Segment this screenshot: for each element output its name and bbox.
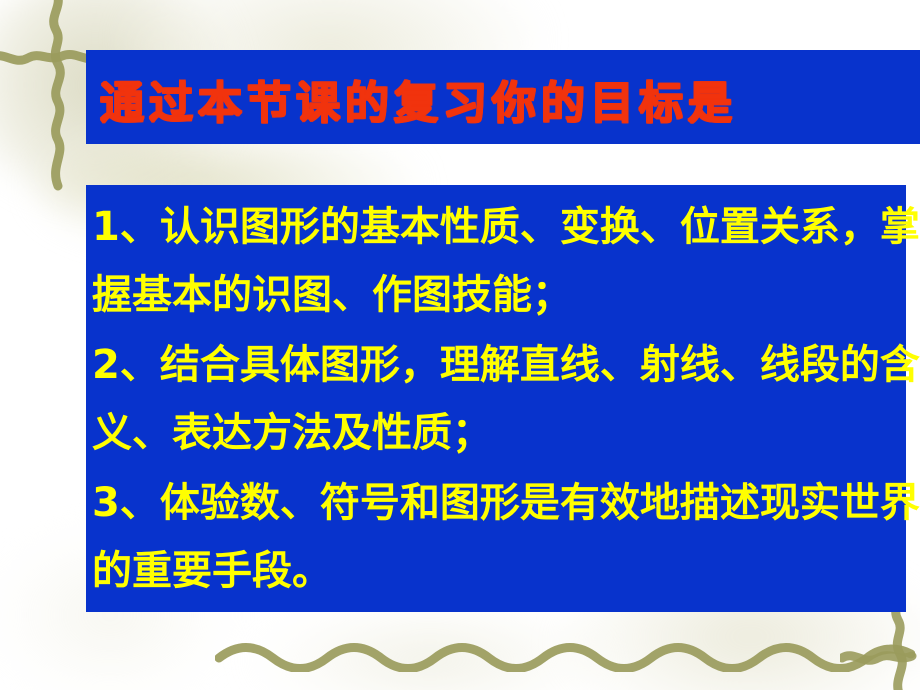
- background-texture-blob: [250, 600, 610, 690]
- slide-canvas: 通过本节课的复习你的目标是 1、认识图形的基本性质、变换、位置关系，掌握基本的识…: [0, 0, 920, 690]
- slide-title: 通过本节课的复习你的目标是: [100, 62, 920, 136]
- wavy-brush-line-icon: [215, 638, 915, 676]
- objective-item-2: 2、结合具体图形，理解直线、射线、线段的含义、表达方法及性质；: [92, 331, 920, 467]
- objective-item-3: 3、体验数、符号和图形是有效地描述现实世界的重要手段。: [92, 469, 920, 605]
- objective-list: 1、认识图形的基本性质、变换、位置关系，掌握基本的识图、作图技能； 2、结合具体…: [92, 193, 920, 607]
- objective-item-1: 1、认识图形的基本性质、变换、位置关系，掌握基本的识图、作图技能；: [92, 193, 920, 329]
